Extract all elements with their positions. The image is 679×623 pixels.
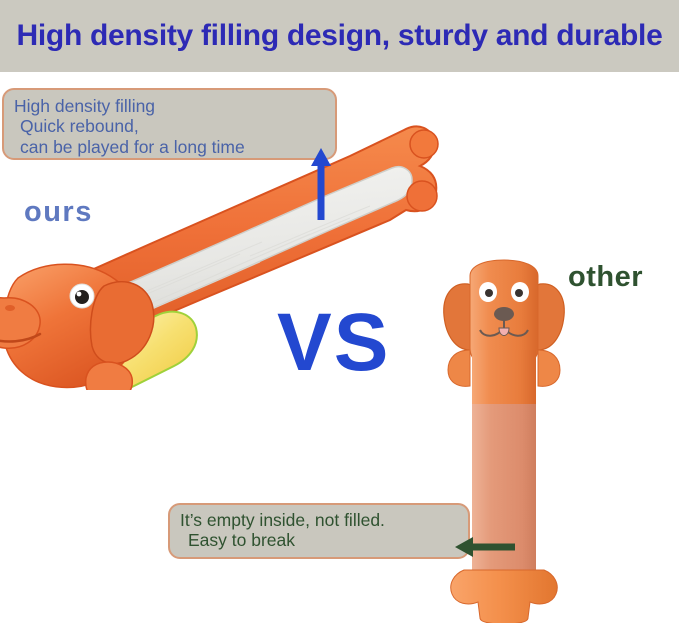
callout-top-line-3: can be played for a long time [14,137,325,157]
callout-bottom-line-2: Easy to break [180,530,458,550]
other-dog-nose [494,307,514,321]
other-dog-left-pupil [485,289,493,297]
plain-dog-squeaker-toy [440,258,570,623]
dog-eye-highlight [77,292,82,297]
empty-inside-callout: It’s empty inside, not filled. Easy to b… [168,503,470,559]
callout-bottom-line-1: It’s empty inside, not filled. [180,510,458,530]
dog-nostril [5,305,15,311]
callout-top-line-1: High density filling [14,96,325,116]
dog-eye-pupil [75,290,89,304]
callout-top-line-2: Quick rebound, [14,116,325,136]
toy-tail-nub-upper [410,130,438,158]
other-dog-right-pupil [515,289,523,297]
arrow-up-blue-icon [310,148,332,220]
label-ours: ours [24,196,93,229]
toy-tail-nub-lower [407,181,437,211]
other-dog-foot-base [451,570,558,623]
other-dog-left-arm [448,350,470,386]
product-comparison-infographic: High density filling design, sturdy and … [0,0,679,623]
high-density-filling-callout: High density filling Quick rebound, can … [2,88,337,160]
label-other: other [568,261,643,294]
other-dog-torso [472,350,536,406]
versus-label: VS [277,302,390,384]
other-dog-right-arm [538,350,560,386]
page-title: High density filling design, sturdy and … [0,0,679,72]
arrow-left-green-icon [455,536,515,558]
